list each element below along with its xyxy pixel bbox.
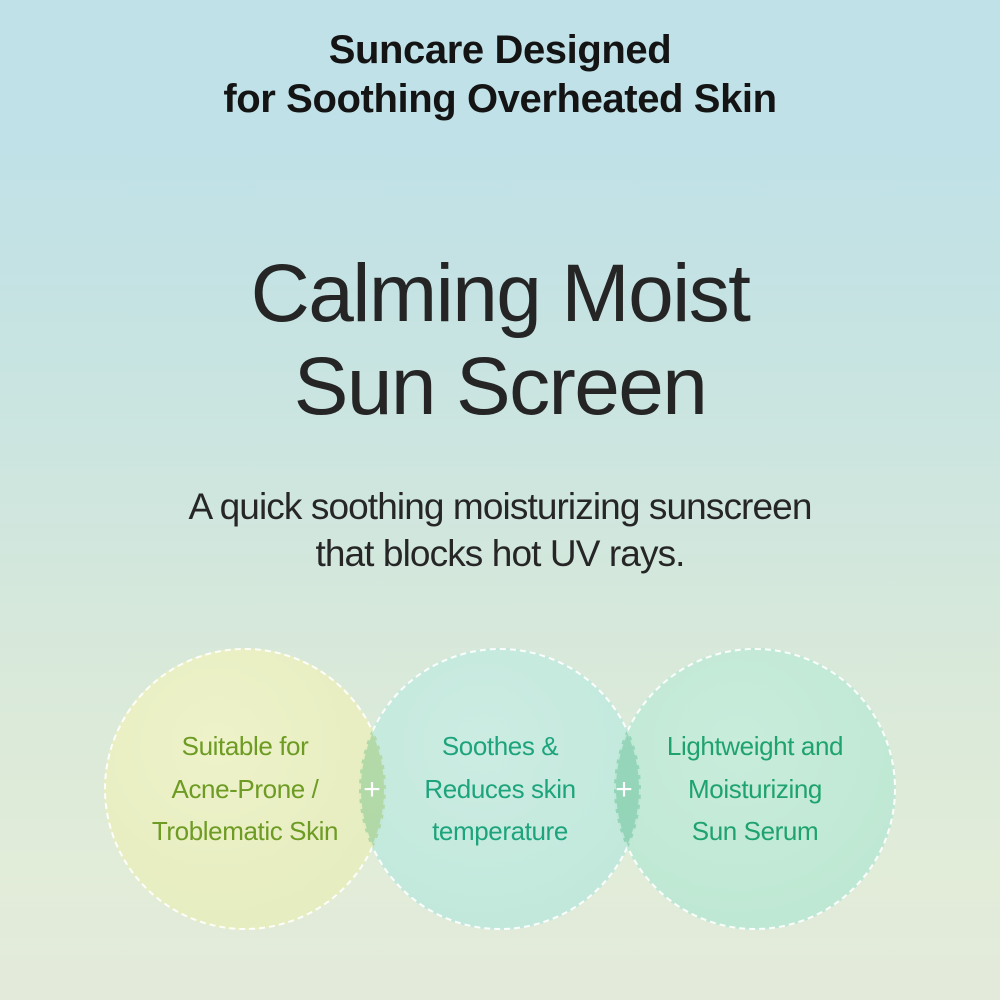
benefit-acne-prone-line-3: Troblematic Skin [152, 810, 338, 853]
benefit-acne-prone-line-1: Suitable for [152, 725, 338, 768]
eyebrow-headline: Suncare Designed for Soothing Overheated… [0, 26, 1000, 124]
benefit-lightweight-serum-line-2: Moisturizing [667, 768, 843, 811]
benefit-soothes-reduces-line-1: Soothes & [424, 725, 575, 768]
product-title-line-1: Calming Moist [0, 248, 1000, 341]
eyebrow-headline-line-1: Suncare Designed [0, 26, 1000, 75]
benefit-soothes-reduces-line-2: Reduces skin [424, 768, 575, 811]
product-subtitle: A quick soothing moisturizing sunscreen … [0, 484, 1000, 577]
benefit-lightweight-serum-line-1: Lightweight and [667, 725, 843, 768]
benefit-circle-lightweight-serum: Lightweight and Moisturizing Sun Serum [614, 648, 896, 930]
plus-icon-right: + [609, 775, 639, 805]
plus-icon-left: + [357, 775, 387, 805]
product-title-line-2: Sun Screen [0, 341, 1000, 434]
product-subtitle-line-1: A quick soothing moisturizing sunscreen [0, 484, 1000, 531]
product-title: Calming Moist Sun Screen [0, 248, 1000, 433]
benefit-circle-acne-prone: Suitable for Acne-Prone / Troblematic Sk… [104, 648, 386, 930]
eyebrow-headline-line-2: for Soothing Overheated Skin [0, 75, 1000, 124]
benefit-circle-soothes-reduces: Soothes & Reduces skin temperature [359, 648, 641, 930]
benefit-circles-group: Suitable for Acne-Prone / Troblematic Sk… [0, 648, 1000, 934]
benefit-lightweight-serum-line-3: Sun Serum [667, 810, 843, 853]
benefit-soothes-reduces-line-3: temperature [424, 810, 575, 853]
product-subtitle-line-2: that blocks hot UV rays. [0, 531, 1000, 578]
benefit-acne-prone-line-2: Acne-Prone / [152, 768, 338, 811]
